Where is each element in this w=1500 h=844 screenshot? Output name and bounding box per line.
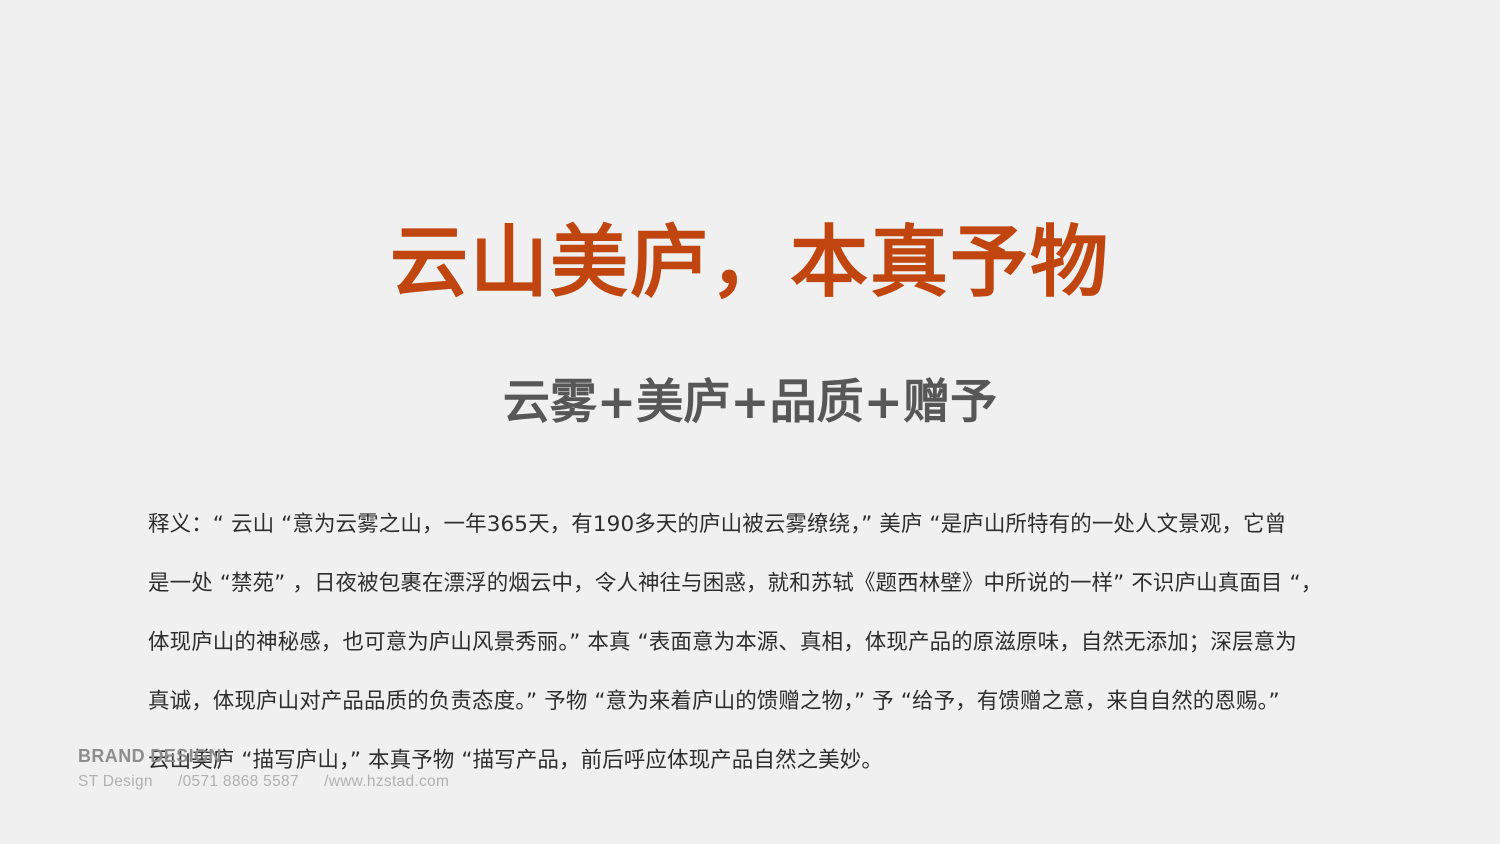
footer: BRAND DESIGN ST Design /0571 8868 5587 /… [78,745,778,794]
body-line: 是一处 “禁苑” ，日夜被包裹在漂浮的烟云中，令人神往与困惑，就和苏轼《题西林壁… [148,565,1358,603]
subtitle-formula: 云雾+美庐+品质+赠予 [503,375,997,431]
footer-studio-name: ST Design [78,770,153,794]
body-line: 体现庐山的神秘感，也可意为庐山风景秀丽。” 本真 “表面意为本源、真相，体现产品… [148,624,1358,662]
main-title-block: 云山美庐，本真予物 [0,168,1500,360]
footer-brand-label: BRAND DESIGN [78,745,778,767]
body-line: 真诚，体现庐山对产品品质的负责态度。” 予物 “意为来着庐山的馈赠之物，” 予 … [148,683,1358,721]
subtitle-block: 云雾+美庐+品质+赠予 [0,336,1500,470]
footer-website: /www.hzstad.com [324,770,449,794]
body-line: 释义：“ 云山 “意为云雾之山，一年365天，有190多天的庐山被云雾缭绕，” … [148,506,1358,544]
footer-contact-line: ST Design /0571 8868 5587 /www.hzstad.co… [78,770,778,794]
slide-canvas: 云山美庐，本真予物 云雾+美庐+品质+赠予 释义：“ 云山 “意为云雾之山，一年… [0,0,1500,844]
footer-phone: /0571 8868 5587 [178,770,299,794]
page-title: 云山美庐，本真予物 [390,220,1110,307]
